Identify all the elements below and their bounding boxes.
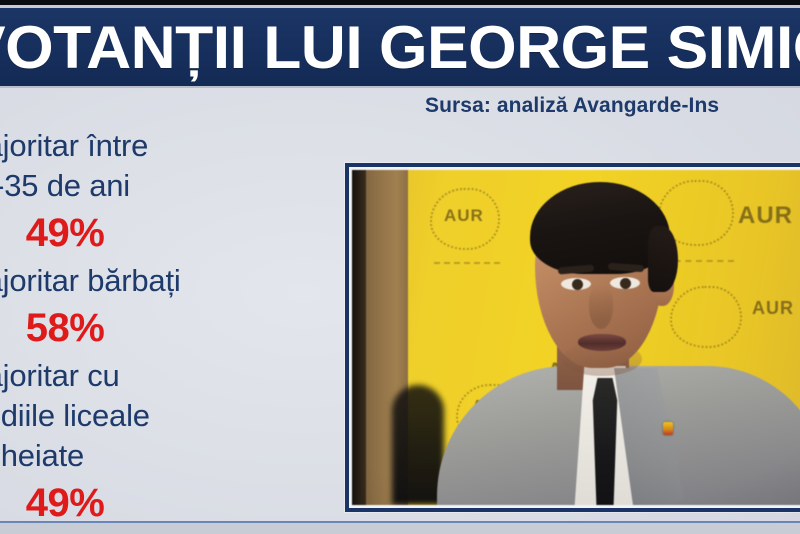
stat-label-line: Majoritar între: [0, 126, 340, 166]
portrait-photo-frame: AUR AUR AUR AUR AUR AUR: [345, 163, 800, 512]
bottom-strip: [0, 523, 800, 534]
stat-value-gender: 58%: [0, 304, 170, 352]
stat-item-age: Majoritar între 18-35 de ani 49%: [0, 126, 340, 257]
stat-item-gender: Majoritar bărbați 58%: [0, 261, 340, 352]
page-title: VOTANȚII LUI GEORGE SIMION: [0, 12, 800, 84]
stat-label-line: 18-35 de ani: [0, 166, 340, 206]
stat-label-line: încheiate: [0, 436, 340, 476]
eye-left: [561, 278, 591, 290]
nose: [589, 285, 613, 329]
stat-label-line: Majoritar cu: [0, 356, 340, 396]
infographic-canvas: VOTANȚII LUI GEORGE SIMION Sursa: analiz…: [0, 0, 800, 534]
statistics-list: Majoritar între 18-35 de ani 49% Majorit…: [0, 126, 340, 527]
portrait-photo: AUR AUR AUR AUR AUR AUR: [352, 170, 800, 505]
title-underline: [0, 86, 800, 88]
person-figure: [352, 170, 800, 505]
mouth: [578, 334, 626, 351]
stat-item-education: Majoritar cu studiile liceale încheiate …: [0, 356, 340, 527]
source-label: Sursa: analiză Avangarde-Ins: [425, 93, 719, 119]
stat-value-age: 49%: [0, 209, 170, 257]
hair-sideburn: [648, 226, 678, 292]
title-banner: VOTANȚII LUI GEORGE SIMION: [0, 8, 800, 86]
stat-label-line: Majoritar bărbați: [0, 261, 340, 301]
lapel-pin: [663, 422, 673, 435]
eye-right: [610, 277, 640, 289]
photo-inner-matte: AUR AUR AUR AUR AUR AUR: [349, 167, 800, 508]
stat-value-education: 49%: [0, 479, 170, 527]
stat-label-line: studiile liceale: [0, 396, 340, 436]
